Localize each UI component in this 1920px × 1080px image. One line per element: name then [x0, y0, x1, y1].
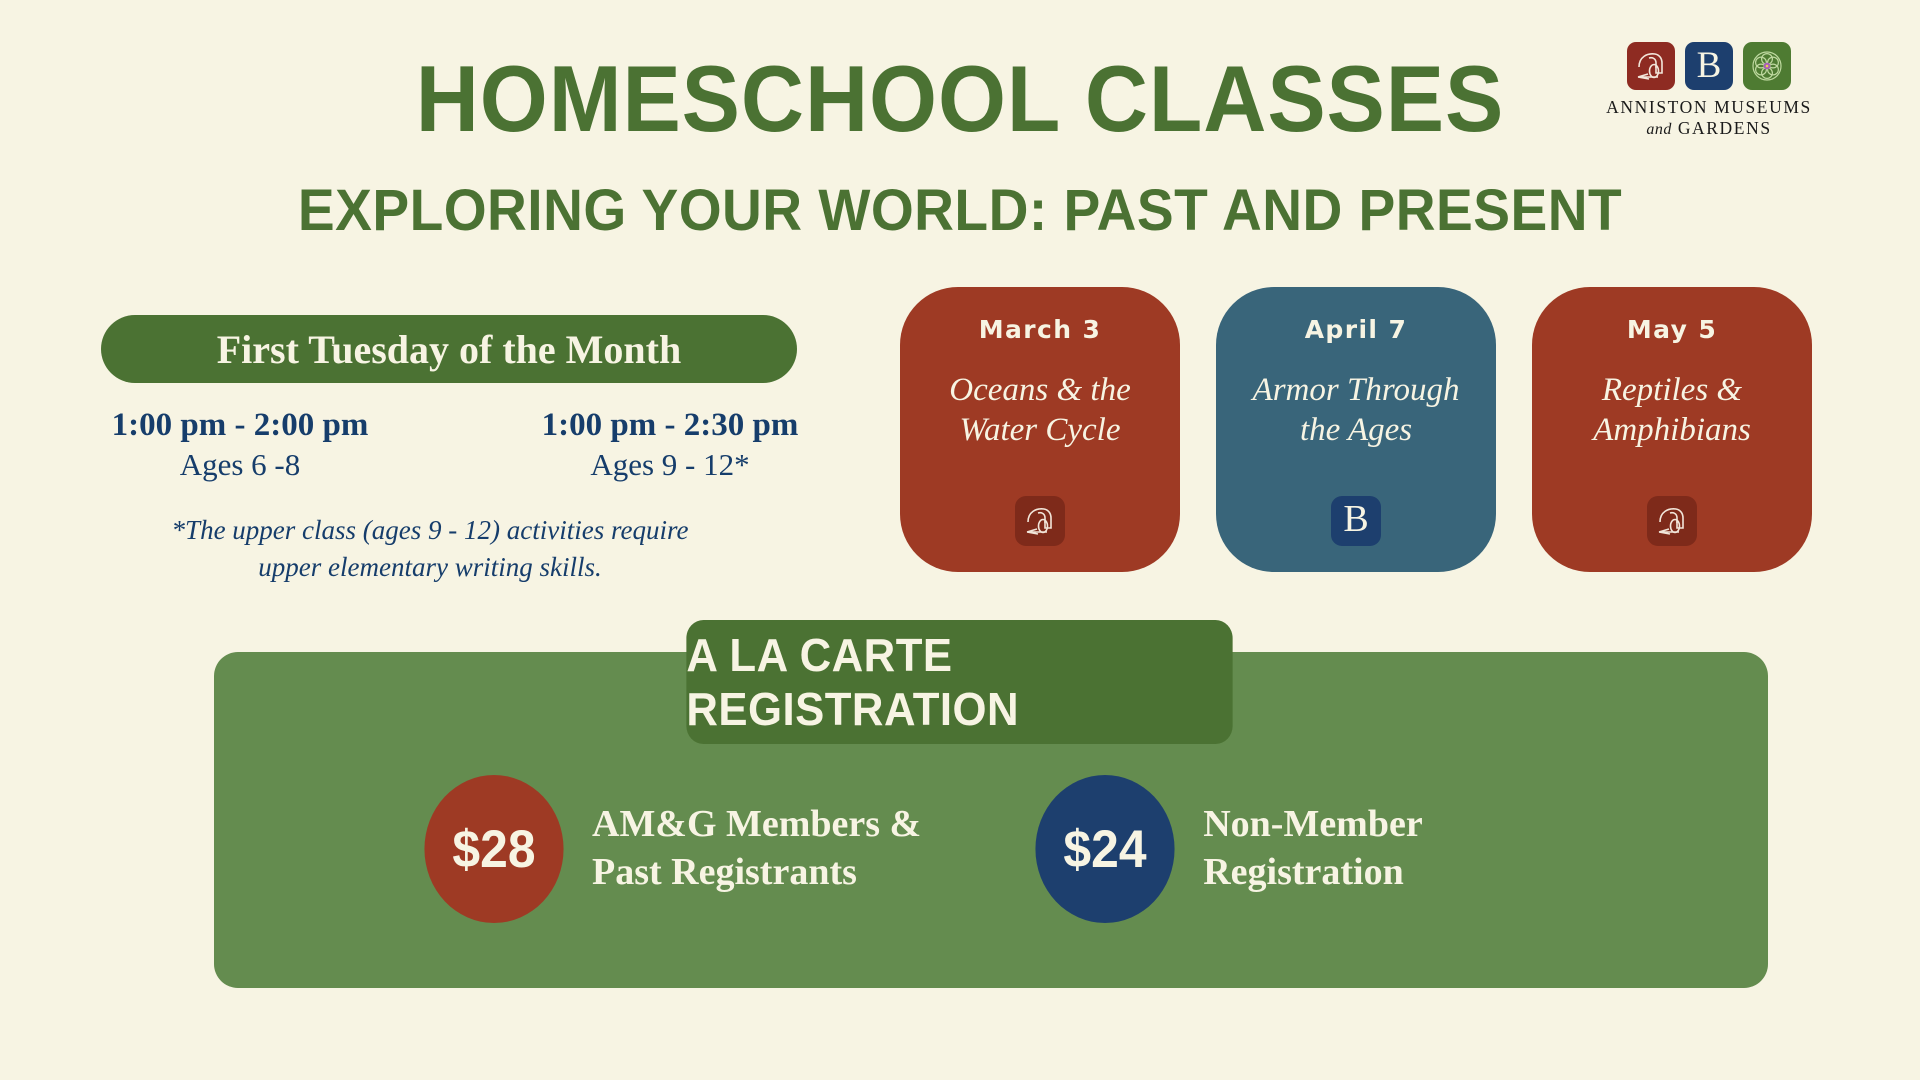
schedule-footnote: *The upper class (ages 9 - 12) activitie…	[110, 512, 750, 587]
homeschool-classes-poster: B ANNISTON MUSEUMS and GARDE	[0, 0, 1920, 1080]
badge-b-letter: B	[1343, 500, 1368, 538]
price-label-line-2: Registration	[1203, 849, 1422, 897]
session-times: 1:00 pm - 2:00 pm Ages 6 -8 1:00 pm - 2:…	[60, 405, 850, 485]
price-label-line-2: Past Registrants	[592, 849, 921, 897]
registration-banner: A LA CARTE REGISTRATION	[686, 620, 1232, 744]
class-date: March 3	[979, 317, 1102, 342]
class-date: May 5	[1627, 317, 1717, 342]
class-topic-line-2: Water Cycle	[949, 410, 1130, 450]
class-topic: Armor Through the Ages	[1237, 370, 1476, 451]
class-topic: Reptiles & Amphibians	[1577, 370, 1767, 451]
class-topic-line-1: Reptiles &	[1593, 370, 1751, 410]
class-card-april[interactable]: April 7 Armor Through the Ages B	[1216, 287, 1496, 572]
schedule-pill: First Tuesday of the Month	[101, 315, 797, 383]
museum-bird-icon	[1015, 496, 1065, 546]
price-label: AM&G Members & Past Registrants	[592, 801, 921, 897]
class-topic-line-1: Oceans & the	[949, 370, 1130, 410]
price-label-line-1: AM&G Members &	[592, 801, 921, 849]
class-topic-line-2: the Ages	[1253, 410, 1460, 450]
class-date: April 7	[1305, 317, 1408, 342]
session-ages: Ages 6 -8	[60, 446, 420, 485]
price-label-line-1: Non-Member	[1203, 801, 1422, 849]
session-ages: Ages 9 - 12*	[490, 446, 850, 485]
footnote-line-1: *The upper class (ages 9 - 12) activitie…	[110, 512, 750, 549]
registration-prices: $28 AM&G Members & Past Registrants $24 …	[420, 775, 1423, 923]
berman-b-icon: B	[1331, 496, 1381, 546]
price-amount-badge: $28	[424, 775, 563, 923]
class-topic-line-1: Armor Through	[1253, 370, 1460, 410]
class-cards: March 3 Oceans & the Water Cycle April 7…	[900, 287, 1812, 572]
price-non-member[interactable]: $24 Non-Member Registration	[1031, 775, 1422, 923]
class-topic: Oceans & the Water Cycle	[933, 370, 1146, 451]
session-time: 1:00 pm - 2:00 pm	[60, 405, 420, 446]
class-card-may[interactable]: May 5 Reptiles & Amphibians	[1532, 287, 1812, 572]
price-member[interactable]: $28 AM&G Members & Past Registrants	[420, 775, 921, 923]
class-topic-line-2: Amphibians	[1593, 410, 1751, 450]
session-younger: 1:00 pm - 2:00 pm Ages 6 -8	[60, 405, 420, 485]
page-title: HOMESCHOOL CLASSES	[67, 52, 1853, 146]
museum-bird-icon	[1647, 496, 1697, 546]
class-card-march[interactable]: March 3 Oceans & the Water Cycle	[900, 287, 1180, 572]
price-amount-badge: $24	[1036, 775, 1175, 923]
footnote-line-2: upper elementary writing skills.	[110, 549, 750, 586]
price-label: Non-Member Registration	[1203, 801, 1422, 897]
session-time: 1:00 pm - 2:30 pm	[490, 405, 850, 446]
page-subtitle: EXPLORING YOUR WORLD: PAST AND PRESENT	[48, 182, 1872, 240]
session-older: 1:00 pm - 2:30 pm Ages 9 - 12*	[490, 405, 850, 485]
